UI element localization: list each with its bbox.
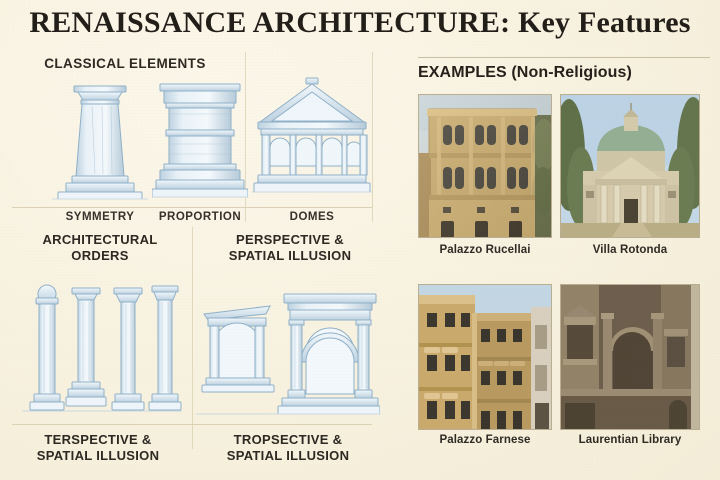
section-heading-perspective-line2: SPATIAL ILLUSION bbox=[198, 248, 382, 264]
section-heading-architectural-orders: ARCHITECTURAL ORDERS bbox=[14, 232, 186, 263]
section-caption-tropsective: TROPSECTIVE & SPATIAL ILLUSION bbox=[196, 432, 380, 463]
examples-panel: EXAMPLES (Non-Religious) bbox=[408, 52, 720, 480]
example-photo-laurentian-library[interactable]: Laurentian Library bbox=[560, 284, 700, 430]
section-caption-terspective-line1: TERSPECTIVE & bbox=[8, 432, 188, 448]
examples-heading: EXAMPLES (Non-Religious) bbox=[418, 64, 632, 82]
section-caption-tropsective-line1: TROPSECTIVE & bbox=[196, 432, 380, 448]
column-pedestal-figure bbox=[48, 78, 152, 206]
pedimented-temple-figure bbox=[252, 74, 372, 206]
section-heading-architectural-orders-line1: ARCHITECTURAL bbox=[14, 232, 186, 248]
villa-rotonda-image bbox=[560, 94, 700, 238]
laurentian-library-image bbox=[560, 284, 700, 430]
section-heading-classical-elements: CLASSICAL ELEMENTS bbox=[20, 56, 230, 71]
examples-divider bbox=[418, 57, 710, 58]
left-diagram-panel: CLASSICAL ELEMENTS bbox=[0, 52, 400, 480]
caption-palazzo-rucellai: Palazzo Rucellai bbox=[412, 244, 558, 256]
four-columns-figure bbox=[22, 280, 182, 420]
figure-label-proportion: PROPORTION bbox=[150, 210, 250, 224]
example-photo-villa-rotonda[interactable]: Villa Rotonda bbox=[560, 94, 700, 238]
section-caption-tropsective-line2: SPATIAL ILLUSION bbox=[196, 448, 380, 464]
figure-label-domes: DOMES bbox=[262, 210, 362, 224]
page-title-lead: RENAISSANCE ARCHITECTURE: bbox=[29, 6, 510, 39]
palazzo-rucellai-image bbox=[418, 94, 552, 238]
divider-vertical-top-right bbox=[372, 52, 373, 222]
divider-horizontal-mid bbox=[12, 207, 372, 208]
section-heading-architectural-orders-line2: ORDERS bbox=[14, 248, 186, 264]
page-title-tail: Key Features bbox=[510, 6, 690, 39]
infographic-page: RENAISSANCE ARCHITECTURE: Key Features C… bbox=[0, 0, 720, 480]
caption-laurentian-library: Laurentian Library bbox=[554, 434, 706, 446]
arches-perspective-figure bbox=[196, 278, 380, 420]
caption-villa-rotonda: Villa Rotonda bbox=[554, 244, 706, 256]
palazzo-farnese-image bbox=[418, 284, 552, 430]
section-caption-terspective-line2: SPATIAL ILLUSION bbox=[8, 448, 188, 464]
section-heading-perspective: PERSPECTIVE & SPATIAL ILLUSION bbox=[198, 232, 382, 263]
caption-palazzo-farnese: Palazzo Farnese bbox=[412, 434, 558, 446]
stacked-entablature-figure bbox=[152, 78, 248, 206]
section-caption-terspective: TERSPECTIVE & SPATIAL ILLUSION bbox=[8, 432, 188, 463]
divider-vertical-bottom bbox=[192, 227, 193, 449]
figure-label-symmetry: SYMMETRY bbox=[40, 210, 160, 224]
divider-horizontal-bottom bbox=[12, 424, 372, 425]
page-title: RENAISSANCE ARCHITECTURE: Key Features bbox=[0, 6, 720, 40]
example-photo-palazzo-rucellai[interactable]: Palazzo Rucellai bbox=[418, 94, 552, 238]
section-heading-perspective-line1: PERSPECTIVE & bbox=[198, 232, 382, 248]
example-photo-palazzo-farnese[interactable]: Palazzo Farnese bbox=[418, 284, 552, 430]
